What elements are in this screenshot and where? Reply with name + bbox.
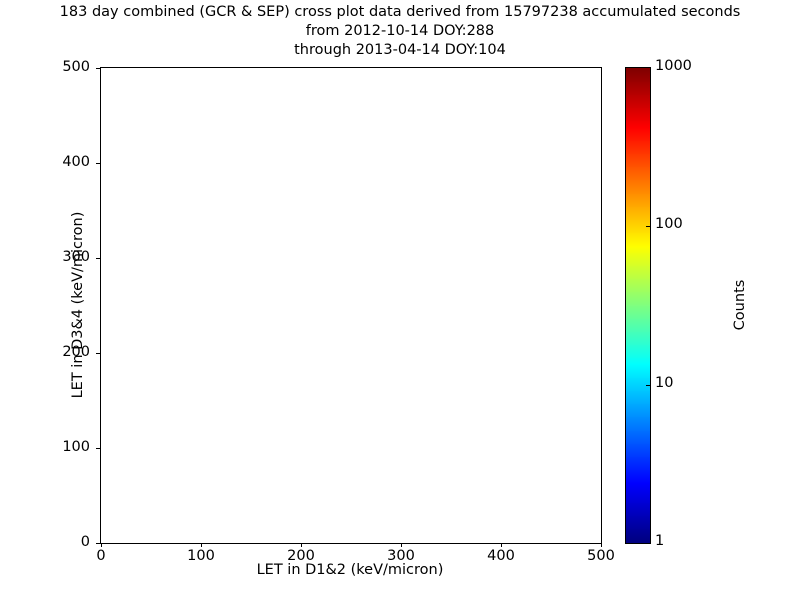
colorbar-tick-label: 10 bbox=[655, 375, 673, 391]
x-tick-mark bbox=[301, 543, 302, 547]
x-axis-label: LET in D1&2 (keV/micron) bbox=[100, 562, 600, 578]
colorbar-tick-label: 1 bbox=[655, 533, 664, 549]
x-tick-mark bbox=[101, 543, 102, 547]
title-line-1: 183 day combined (GCR & SEP) cross plot … bbox=[0, 3, 800, 22]
colorbar-tick-mark bbox=[646, 226, 650, 227]
plot-axes-frame bbox=[100, 67, 602, 544]
y-tick-mark bbox=[96, 258, 100, 259]
x-tick-mark bbox=[601, 543, 602, 547]
colorbar-tick-label: 1000 bbox=[655, 58, 692, 74]
title-line-2: from 2012-10-14 DOY:288 bbox=[0, 22, 800, 41]
y-tick-mark bbox=[96, 448, 100, 449]
colorbar-tick-label: 100 bbox=[655, 216, 683, 232]
y-tick-mark bbox=[96, 68, 100, 69]
figure-canvas: 183 day combined (GCR & SEP) cross plot … bbox=[0, 0, 800, 600]
x-tick-mark bbox=[201, 543, 202, 547]
x-tick-mark bbox=[401, 543, 402, 547]
chart-title: 183 day combined (GCR & SEP) cross plot … bbox=[0, 3, 800, 60]
colorbar-frame bbox=[625, 67, 651, 544]
colorbar-tick-mark bbox=[646, 385, 650, 386]
colorbar-label: Counts bbox=[732, 165, 748, 445]
y-tick-mark bbox=[96, 543, 100, 544]
y-tick-mark bbox=[96, 353, 100, 354]
x-tick-mark bbox=[501, 543, 502, 547]
y-axis-label: LET in D3&4 (keV/micron) bbox=[70, 65, 86, 545]
y-tick-mark bbox=[96, 163, 100, 164]
